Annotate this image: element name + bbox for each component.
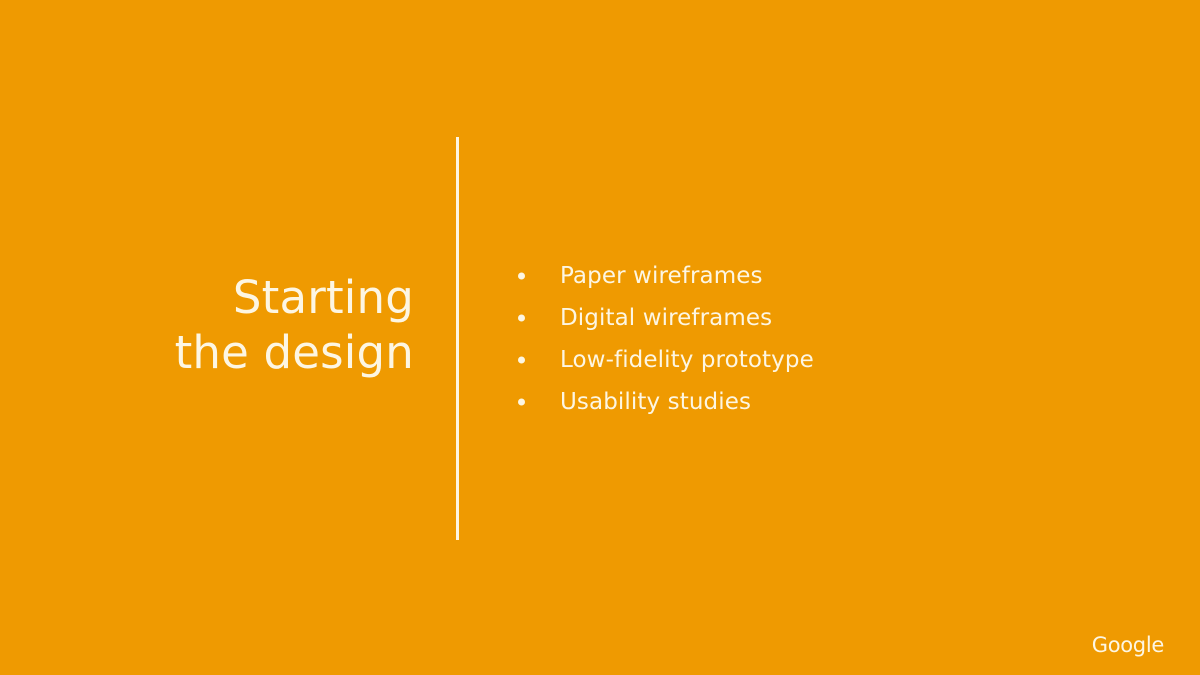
google-logo: Google: [1092, 633, 1164, 657]
slide-canvas: Starting the design Paper wireframes Dig…: [0, 0, 1200, 675]
slide-title: Starting the design: [60, 270, 414, 380]
bullet-list: Paper wireframes Digital wireframes Low-…: [512, 255, 1152, 423]
vertical-divider: [456, 137, 459, 540]
bullet-dot-icon: [518, 315, 525, 322]
list-item: Usability studies: [512, 381, 1152, 423]
bullet-dot-icon: [518, 399, 525, 406]
slide-title-line-1: Starting: [60, 270, 414, 325]
bullet-dot-icon: [518, 357, 525, 364]
list-item: Low-fidelity prototype: [512, 339, 1152, 381]
list-item: Paper wireframes: [512, 255, 1152, 297]
list-item-label: Low-fidelity prototype: [560, 346, 814, 374]
bullet-dot-icon: [518, 273, 525, 280]
list-item-label: Digital wireframes: [560, 304, 772, 332]
list-item-label: Usability studies: [560, 388, 751, 416]
list-item-label: Paper wireframes: [560, 262, 763, 290]
slide-title-line-2: the design: [60, 325, 414, 380]
list-item: Digital wireframes: [512, 297, 1152, 339]
